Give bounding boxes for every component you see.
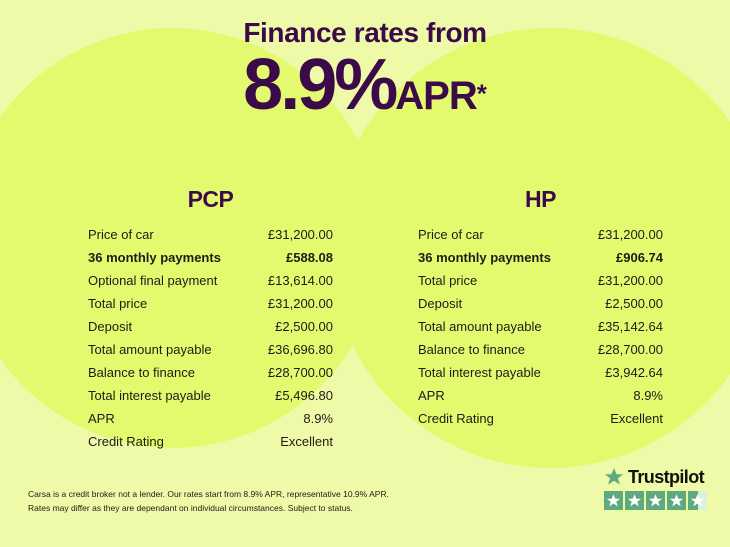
trustpilot-name: Trustpilot — [628, 467, 704, 488]
star-icon — [646, 491, 665, 510]
star-glyph — [667, 491, 686, 510]
star-glyph — [646, 491, 665, 510]
headline-block: Finance rates from 8.9%APR* — [0, 18, 730, 121]
row-label: Deposit — [418, 296, 462, 311]
row-value: 8.9% — [633, 388, 663, 403]
row-value: Excellent — [280, 434, 333, 449]
plan-table-pcp: PCP Price of car£31,200.0036 monthly pay… — [88, 186, 333, 457]
row-label: Price of car — [88, 227, 154, 242]
plan-row: Total amount payable£36,696.80 — [88, 342, 333, 365]
plan-table-hp: HP Price of car£31,200.0036 monthly paym… — [418, 186, 663, 434]
row-value: £31,200.00 — [598, 227, 663, 242]
plan-row: Credit RatingExcellent — [418, 411, 663, 434]
row-value: £588.08 — [286, 250, 333, 265]
row-value: £2,500.00 — [275, 319, 333, 334]
headline-rate-row: 8.9%APR* — [0, 49, 730, 121]
plan-row: Total price£31,200.00 — [88, 296, 333, 319]
row-value: £31,200.00 — [268, 296, 333, 311]
star-icon — [625, 491, 644, 510]
row-label: Total interest payable — [88, 388, 211, 403]
star-icon — [667, 491, 686, 510]
trustpilot-badge[interactable]: Trustpilot — [604, 466, 707, 510]
plan-row: Optional final payment£13,614.00 — [88, 273, 333, 296]
plan-title-hp: HP — [418, 186, 663, 213]
page-title: Finance rates from — [0, 18, 730, 47]
row-value: £2,500.00 — [605, 296, 663, 311]
finance-rates-promo-card: Finance rates from 8.9%APR* PCP Price of… — [0, 0, 730, 547]
star-glyph — [688, 491, 707, 510]
plan-rows-hp: Price of car£31,200.0036 monthly payment… — [418, 227, 663, 434]
plan-row: Balance to finance£28,700.00 — [418, 342, 663, 365]
trustpilot-wordmark: Trustpilot — [604, 466, 707, 488]
row-label: Total price — [418, 273, 477, 288]
plan-row: Price of car£31,200.00 — [418, 227, 663, 250]
row-value: £31,200.00 — [598, 273, 663, 288]
disclaimer-text: Carsa is a credit broker not a lender. O… — [28, 487, 448, 515]
plan-row: Balance to finance£28,700.00 — [88, 365, 333, 388]
star-glyph — [625, 491, 644, 510]
row-label: Total price — [88, 296, 147, 311]
row-label: APR — [418, 388, 445, 403]
disclaimer-line-2: Rates may differ as they are dependant o… — [28, 501, 448, 515]
star-icon — [604, 467, 624, 487]
disclaimer-line-1: Carsa is a credit broker not a lender. O… — [28, 487, 448, 501]
plan-row: Deposit£2,500.00 — [418, 296, 663, 319]
star-glyph — [604, 491, 623, 510]
plan-row: 36 monthly payments£906.74 — [418, 250, 663, 273]
row-label: Credit Rating — [418, 411, 494, 426]
row-label: Deposit — [88, 319, 132, 334]
trustpilot-star-rating — [604, 491, 707, 510]
row-value: £3,942.64 — [605, 365, 663, 380]
plan-rows-pcp: Price of car£31,200.0036 monthly payment… — [88, 227, 333, 457]
row-value: £28,700.00 — [268, 365, 333, 380]
row-label: 36 monthly payments — [418, 250, 551, 265]
plan-row: Credit RatingExcellent — [88, 434, 333, 457]
plan-row: 36 monthly payments£588.08 — [88, 250, 333, 273]
plan-title-pcp: PCP — [88, 186, 333, 213]
row-label: Balance to finance — [418, 342, 525, 357]
row-value: £5,496.80 — [275, 388, 333, 403]
row-label: Total amount payable — [88, 342, 212, 357]
row-value: Excellent — [610, 411, 663, 426]
row-value: £906.74 — [616, 250, 663, 265]
row-value: 8.9% — [303, 411, 333, 426]
row-label: APR — [88, 411, 115, 426]
plan-row: Total interest payable£3,942.64 — [418, 365, 663, 388]
row-label: Optional final payment — [88, 273, 217, 288]
plan-row: Total interest payable£5,496.80 — [88, 388, 333, 411]
row-value: £35,142.64 — [598, 319, 663, 334]
plan-row: Deposit£2,500.00 — [88, 319, 333, 342]
row-value: £36,696.80 — [268, 342, 333, 357]
row-label: Total interest payable — [418, 365, 541, 380]
asterisk-marker: * — [477, 79, 487, 109]
row-label: 36 monthly payments — [88, 250, 221, 265]
row-label: Price of car — [418, 227, 484, 242]
plan-row: Total amount payable£35,142.64 — [418, 319, 663, 342]
star-icon — [688, 491, 707, 510]
star-icon — [604, 491, 623, 510]
apr-rate-value: 8.9% — [243, 45, 395, 125]
row-label: Balance to finance — [88, 365, 195, 380]
plan-row: APR8.9% — [88, 411, 333, 434]
row-value: £28,700.00 — [598, 342, 663, 357]
plan-row: Total price£31,200.00 — [418, 273, 663, 296]
plan-row: APR8.9% — [418, 388, 663, 411]
row-label: Total amount payable — [418, 319, 542, 334]
row-label: Credit Rating — [88, 434, 164, 449]
plan-row: Price of car£31,200.00 — [88, 227, 333, 250]
row-value: £31,200.00 — [268, 227, 333, 242]
apr-label: APR — [395, 74, 476, 118]
row-value: £13,614.00 — [268, 273, 333, 288]
